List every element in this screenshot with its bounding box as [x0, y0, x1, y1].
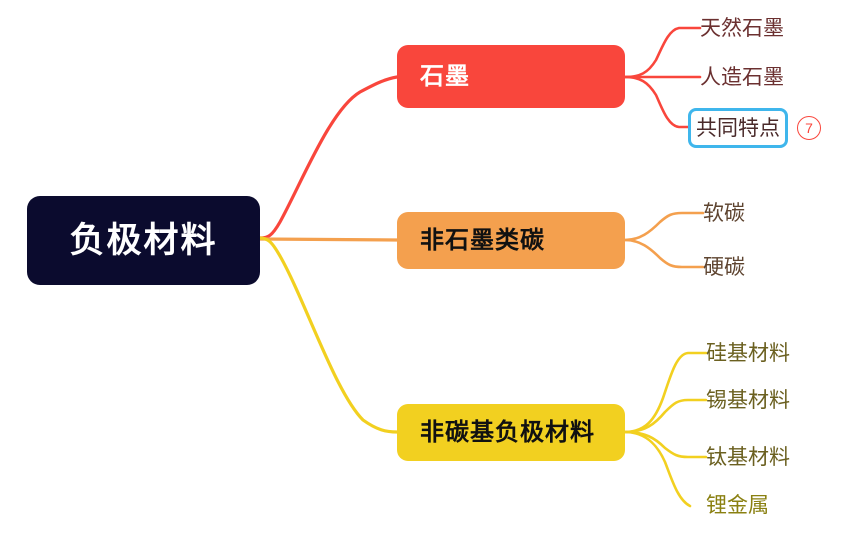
mindmap-canvas: 负极材料 石墨 天然石墨 人造石墨 共同特点 7 非石墨类碳 软碳 硬碳 非碳基…	[0, 0, 865, 541]
edge-nongraphitic-to-hard	[625, 240, 703, 267]
root-node-label: 负极材料	[69, 223, 217, 258]
edge-root-to-graphite	[260, 77, 397, 238]
leaf-node-common-characteristics-label: 共同特点	[696, 118, 780, 139]
branch-node-noncarbon-anode-label: 非碳基负极材料	[397, 421, 595, 445]
edge-graphite-to-natural	[625, 28, 700, 77]
leaf-node-hard-carbon[interactable]: 硬碳	[703, 257, 745, 278]
root-node[interactable]: 负极材料	[27, 196, 260, 285]
edge-noncarbon-to-titanium	[625, 432, 706, 457]
edge-noncarbon-to-silicon	[625, 353, 706, 432]
branch-node-graphite-label: 石墨	[397, 65, 470, 89]
edge-root-to-noncarbon	[260, 238, 397, 432]
status-badge-count: 7	[805, 121, 813, 135]
leaf-node-artificial-graphite[interactable]: 人造石墨	[700, 67, 784, 88]
edge-nongraphitic-to-soft	[625, 213, 703, 240]
branch-node-nongraphitic-carbon[interactable]: 非石墨类碳	[397, 212, 625, 269]
status-badge-common-characteristics[interactable]: 7	[797, 116, 821, 140]
leaf-node-tin-based-material[interactable]: 锡基材料	[706, 390, 790, 411]
edge-root-to-nongraphitic	[260, 239, 397, 240]
edge-noncarbon-to-tin	[625, 400, 706, 432]
branch-node-nongraphitic-carbon-label: 非石墨类碳	[397, 229, 545, 253]
leaf-node-natural-graphite[interactable]: 天然石墨	[700, 18, 784, 39]
edge-noncarbon-to-lithium	[625, 432, 690, 506]
branch-node-graphite[interactable]: 石墨	[397, 45, 625, 108]
leaf-node-lithium-metal[interactable]: 锂金属	[706, 495, 769, 516]
leaf-node-soft-carbon[interactable]: 软碳	[703, 203, 745, 224]
branch-node-noncarbon-anode[interactable]: 非碳基负极材料	[397, 404, 625, 461]
leaf-node-common-characteristics[interactable]: 共同特点	[688, 108, 788, 148]
edge-graphite-to-common	[625, 77, 690, 127]
leaf-node-titanium-based-material[interactable]: 钛基材料	[706, 447, 790, 468]
leaf-node-silicon-based-material[interactable]: 硅基材料	[706, 343, 790, 364]
